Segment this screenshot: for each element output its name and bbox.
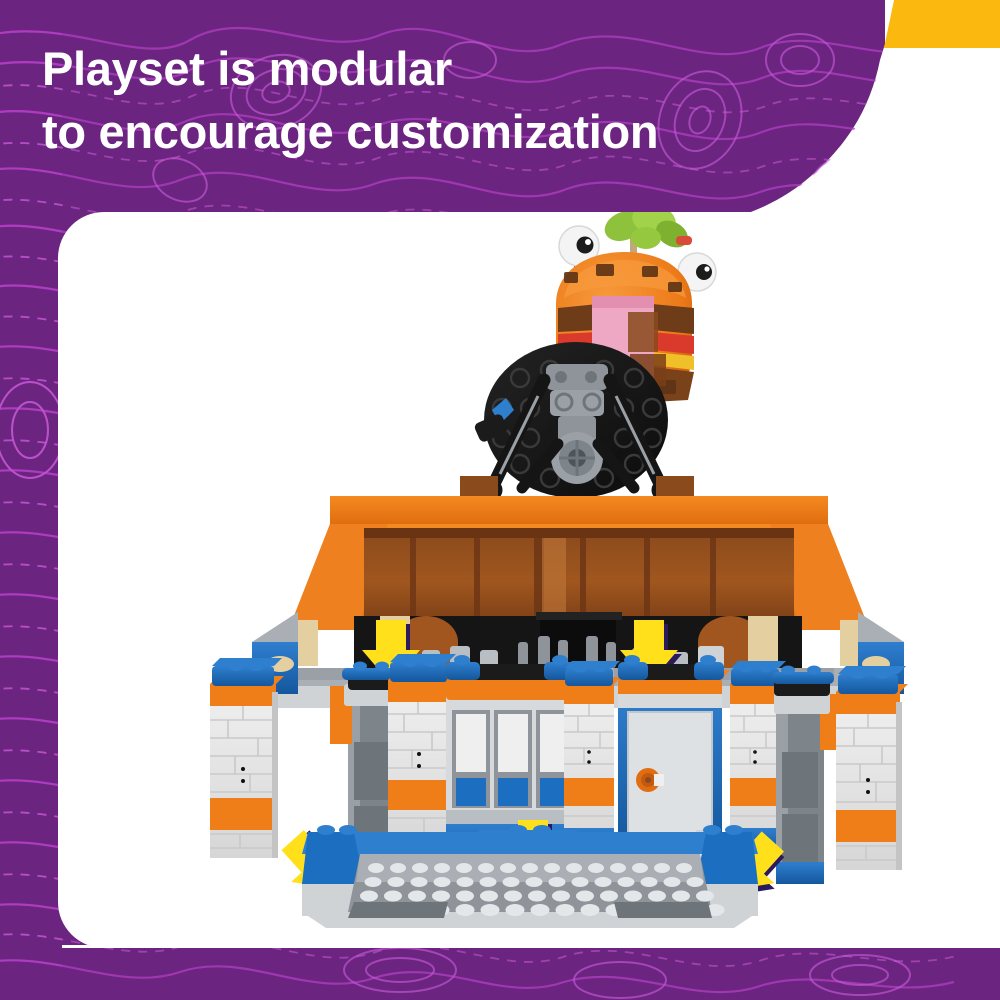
- product-photo: [58, 212, 1000, 948]
- accent-bar-yellow: [884, 0, 1000, 48]
- headline: Playset is modular to encourage customiz…: [42, 38, 842, 163]
- wall-panel-door: [618, 655, 730, 850]
- background-purple-bottom-band: [0, 948, 1000, 1000]
- wall-panel-brick-left: [210, 658, 284, 858]
- wall-panel-brick-3: [564, 661, 621, 852]
- lego-modular-playset-banner: Playset is modular to encourage customiz…: [0, 0, 1000, 1000]
- baseplate: [302, 825, 758, 928]
- wall-panel-brick-right: [836, 666, 908, 870]
- headline-line-1: Playset is modular: [42, 42, 452, 95]
- headline-line-2: to encourage customization: [42, 101, 842, 164]
